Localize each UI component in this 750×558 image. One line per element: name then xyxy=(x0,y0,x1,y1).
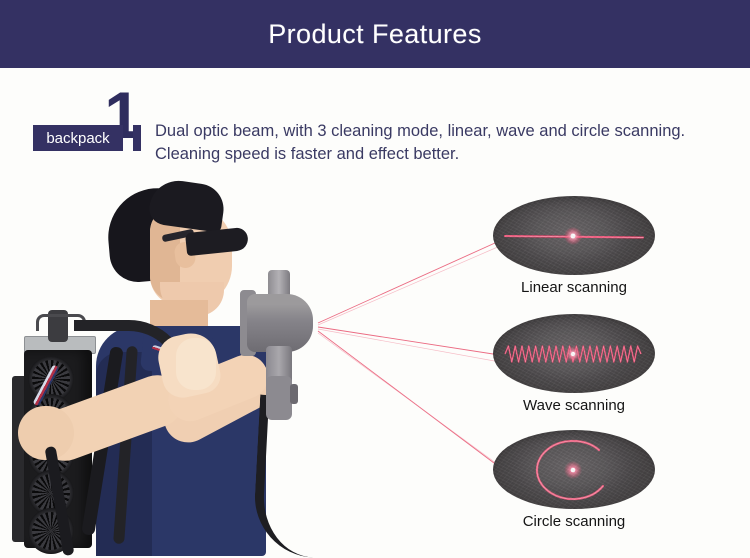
wave-pattern-icon xyxy=(493,314,655,393)
beam-to-linear xyxy=(318,238,506,323)
linear-pattern-icon xyxy=(493,196,655,275)
scan-label-circle: Circle scanning xyxy=(489,513,659,530)
scan-surface-linear xyxy=(493,196,655,275)
circle-pattern-icon xyxy=(493,430,655,509)
scan-label-linear: Linear scanning xyxy=(489,279,659,296)
scan-surface-circle xyxy=(493,430,655,509)
scan-panel-wave: Wave scanning xyxy=(489,314,659,414)
scan-surface-wave xyxy=(493,314,655,393)
scan-panel-circle: Circle scanning xyxy=(489,430,659,530)
scan-label-wave: Wave scanning xyxy=(489,397,659,414)
scan-panel-linear: Linear scanning xyxy=(489,196,659,296)
